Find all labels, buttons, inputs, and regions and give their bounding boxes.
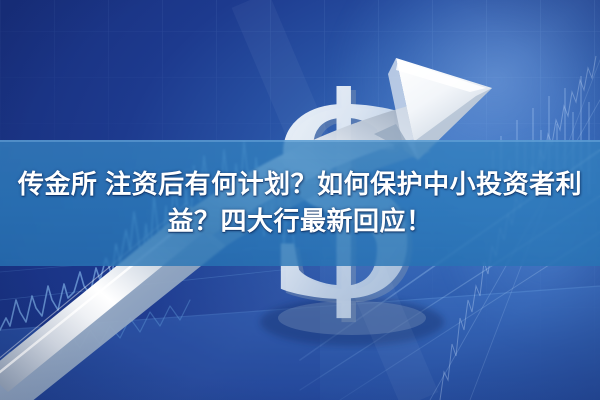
headline-line-1: 传金所 注资后有何计划？如何保护中小投资者利 bbox=[18, 166, 582, 203]
headline: 传金所 注资后有何计划？如何保护中小投资者利 益？四大行最新回应！ bbox=[0, 140, 600, 266]
headline-line-2: 益？四大行最新回应！ bbox=[167, 203, 432, 240]
banner-image: $ $ bbox=[0, 0, 600, 400]
